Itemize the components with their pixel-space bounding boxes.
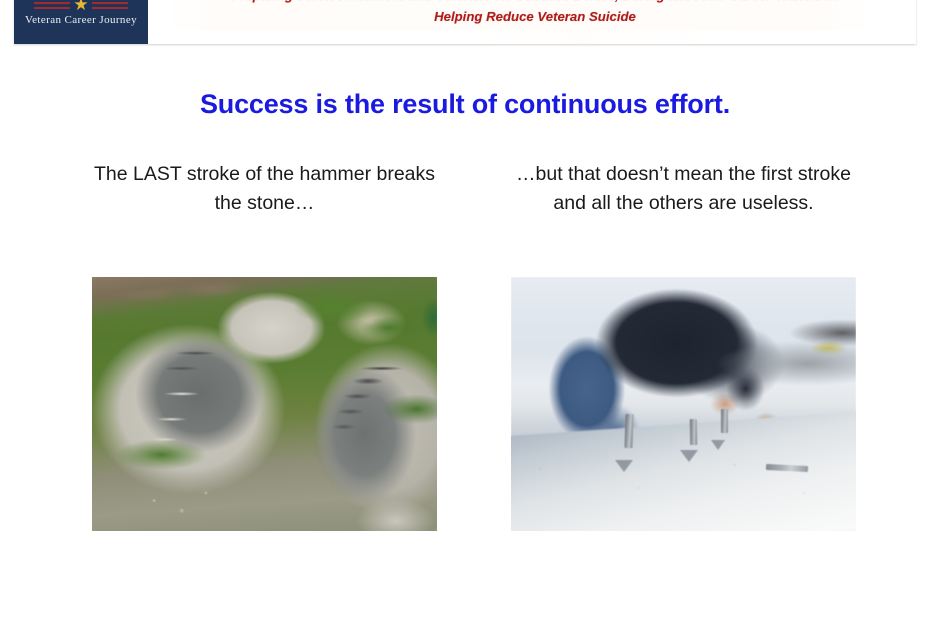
organization-logo[interactable]: ★ Veteran Career Journey [14,0,148,44]
feather-wedge-2-base [680,450,698,462]
page-title: Success is the result of continuous effo… [0,89,930,120]
logo-emblem: ★ [14,0,148,13]
left-column: The LAST stroke of the hammer breaks the… [92,160,437,218]
stonemason-wedges-photo-image [511,277,856,531]
logo-stripe-right-upper [92,2,128,4]
split-boulders-photo-image [92,277,437,531]
right-caption: …but that doesn’t mean the first stroke … [511,160,856,218]
tagline-line-2: Helping Reduce Veteran Suicide [174,6,896,27]
logo-stripe-right-lower [92,7,128,9]
feather-wedge-1-base [615,460,633,472]
logo-organization-name: Veteran Career Journey [14,14,148,26]
left-caption: The LAST stroke of the hammer breaks the… [92,160,437,218]
header-banner: Preparing Service Members and Veterans f… [14,0,916,44]
logo-stripe-left-lower [34,7,70,9]
stonemason-wedges-photo [511,277,856,531]
right-column: …but that doesn’t mean the first stroke … [511,160,856,218]
logo-stripe-left-upper [34,2,70,4]
feather-wedge-2-pin [690,419,697,445]
feather-wedge-1-pin [624,414,633,448]
split-boulders-photo [92,277,437,531]
feather-wedge-3-pin [721,409,728,433]
star-icon: ★ [73,0,88,13]
tagline-group: Preparing Service Members and Veterans f… [174,0,896,27]
feather-wedge-3-base [711,440,725,450]
